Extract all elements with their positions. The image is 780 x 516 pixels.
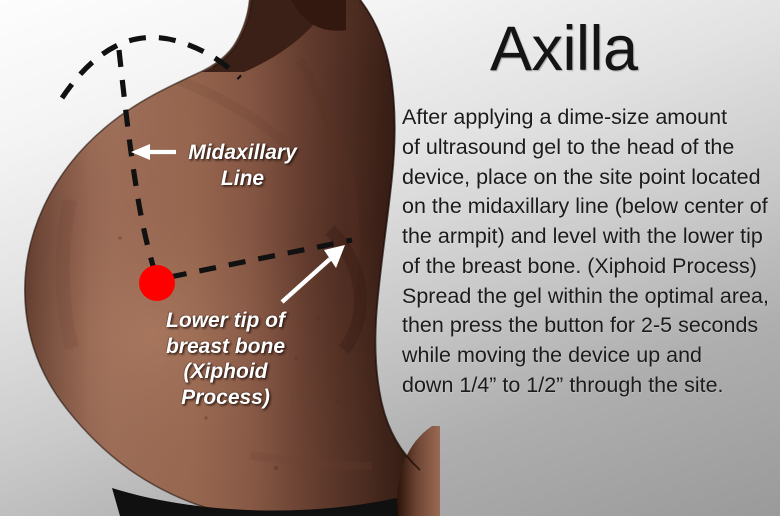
text-panel: Axilla After applying a dime-size amount… [402,18,772,401]
site-marker-dot [139,265,175,301]
midaxillary-arrow [131,144,176,160]
instructions-text: After applying a dime-size amount of ult… [402,103,772,401]
xiphoid-level-line-dashed [170,240,352,277]
illustration-page: Axilla After applying a dime-size amount… [0,0,780,516]
page-title: Axilla [490,18,772,81]
armpit-arc-dashed [62,37,240,98]
dashed-guide-lines [62,37,352,278]
midaxillary-line-dashed [119,50,157,278]
